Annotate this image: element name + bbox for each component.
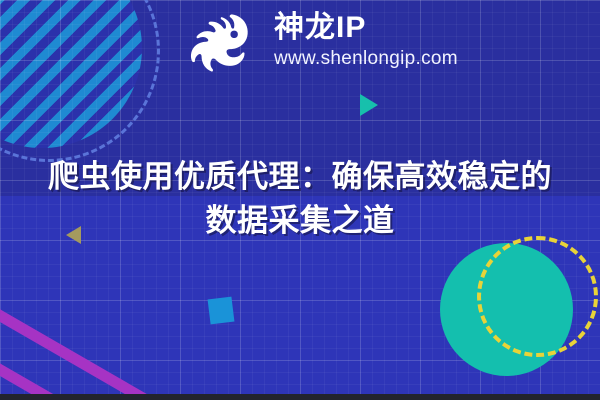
dragon-head-icon: [189, 4, 263, 78]
bottom-strip: [0, 394, 600, 400]
banner-title-line-1: 爬虫使用优质代理：确保高效稳定的: [14, 155, 586, 199]
brand-logo: 神龙IP www.shenlongip.com: [189, 4, 458, 78]
brand-url: www.shenlongip.com: [274, 49, 458, 68]
banner-title: 爬虫使用优质代理：确保高效稳定的 数据采集之道: [0, 155, 600, 243]
dashed-circle-bottom-right: [477, 236, 598, 357]
teal-play-triangle: [360, 94, 378, 116]
promo-banner: 神龙IP www.shenlongip.com 爬虫使用优质代理：确保高效稳定的…: [0, 0, 600, 400]
banner-title-line-2: 数据采集之道: [14, 199, 586, 243]
brand-logo-text: 神龙IP www.shenlongip.com: [274, 13, 458, 70]
brand-name: 神龙IP: [274, 13, 458, 43]
light-blue-square: [208, 297, 235, 325]
